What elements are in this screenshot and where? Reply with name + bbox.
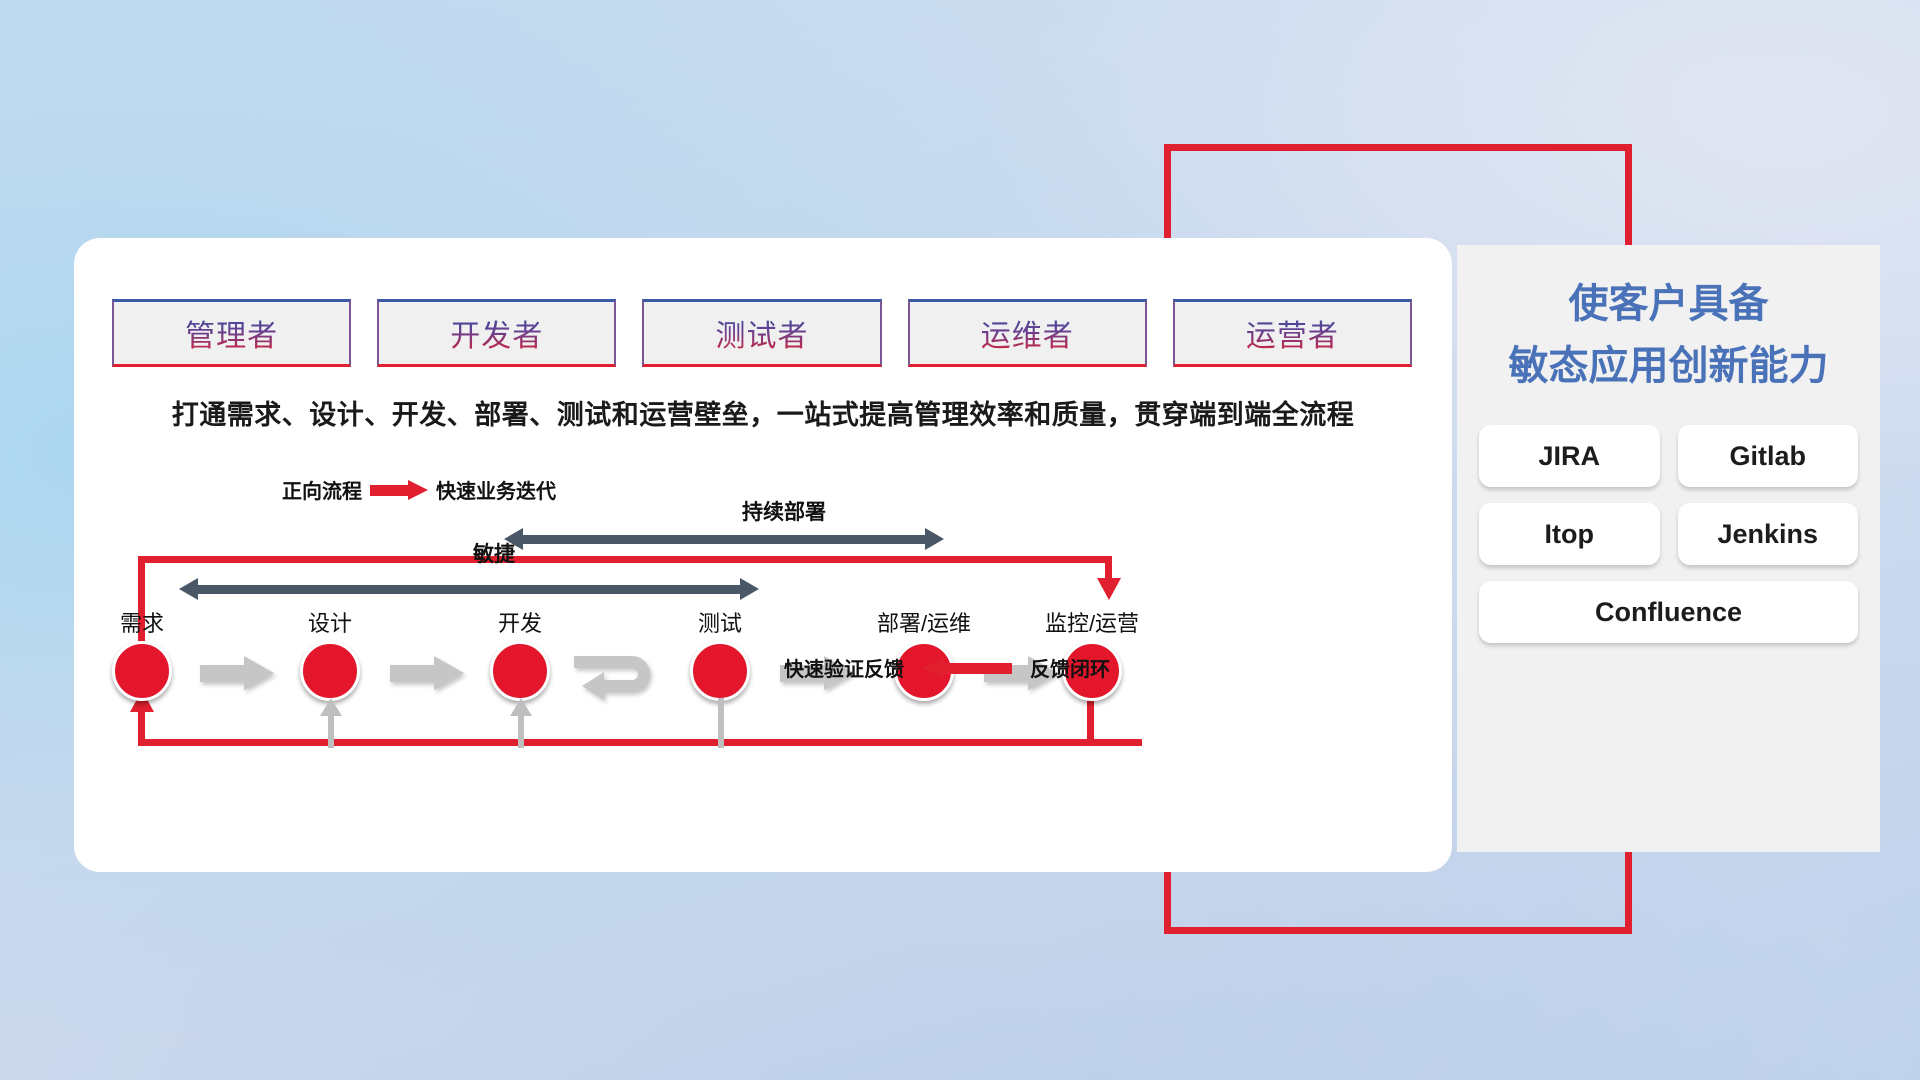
legend-feedback-right-label: 反馈闭环 [1030,653,1110,682]
feedback-loop-bottom-line [138,739,1142,746]
arrow-head-right-icon [740,578,759,600]
node-circle [112,641,172,701]
tool-label: Jenkins [1717,519,1818,550]
legend-feedback-loop: 快速验证反馈 反馈闭环 [784,653,1110,682]
side-panel-title: 使客户具备 敏态应用创新能力 [1457,245,1880,397]
node-stem [328,714,334,748]
arrow-bar [196,585,742,594]
node-requirement[interactable]: 需求 [82,606,202,701]
node-label: 监控/运营 [1032,606,1152,638]
step-arrow-1 [200,656,274,690]
node-stem [518,714,524,748]
arrow-left-red-icon [922,658,1012,678]
arrow-bar [200,665,248,682]
tool-label: JIRA [1538,441,1600,472]
node-label: 设计 [270,606,390,638]
main-card: 管理者 开发者 测试者 运维者 运营者 打通需求、设计、开发、部署、测试和运营壁… [74,238,1452,872]
step-arrow-2 [390,656,464,690]
node-circle [490,641,550,701]
node-label: 开发 [460,606,580,638]
tool-itop[interactable]: Itop [1479,503,1660,565]
node-label: 测试 [660,606,780,638]
node-develop[interactable]: 开发 [460,606,580,701]
tool-label: Gitlab [1729,441,1806,472]
arrow-bar [390,665,438,682]
node-circle [690,641,750,701]
side-panel-title-line2: 敏态应用创新能力 [1457,335,1880,397]
tool-list: JIRA Gitlab Itop Jenkins Confluence [1457,425,1880,643]
side-panel: 使客户具备 敏态应用创新能力 JIRA Gitlab Itop Jenkins … [1457,245,1880,852]
node-stem [718,698,724,748]
tool-label: Confluence [1595,597,1742,628]
node-test[interactable]: 测试 [660,606,780,701]
feedback-loop-right-down-line [1105,556,1112,580]
tool-jira[interactable]: JIRA [1479,425,1660,487]
node-design[interactable]: 设计 [270,606,390,701]
tool-jenkins[interactable]: Jenkins [1678,503,1859,565]
legend-feedback-left-label: 快速验证反馈 [784,653,904,682]
span-label-continuous-deploy: 持续部署 [634,496,934,526]
span-arrow-agile [179,578,759,600]
feedback-loop-left-up-line [138,708,145,746]
node-label: 需求 [82,606,202,638]
arrow-head-right-icon [925,528,944,550]
node-label: 部署/运维 [864,606,984,638]
side-panel-title-line1: 使客户具备 [1457,273,1880,335]
span-label-agile: 敏捷 [344,538,644,568]
tool-label: Itop [1545,519,1594,550]
tool-confluence[interactable]: Confluence [1479,581,1858,643]
pipeline-diagram: 持续部署 敏捷 需求 设计 [74,238,1452,872]
tool-gitlab[interactable]: Gitlab [1678,425,1859,487]
feedback-loop-down-arrowhead-icon [1097,578,1121,600]
node-circle [300,641,360,701]
